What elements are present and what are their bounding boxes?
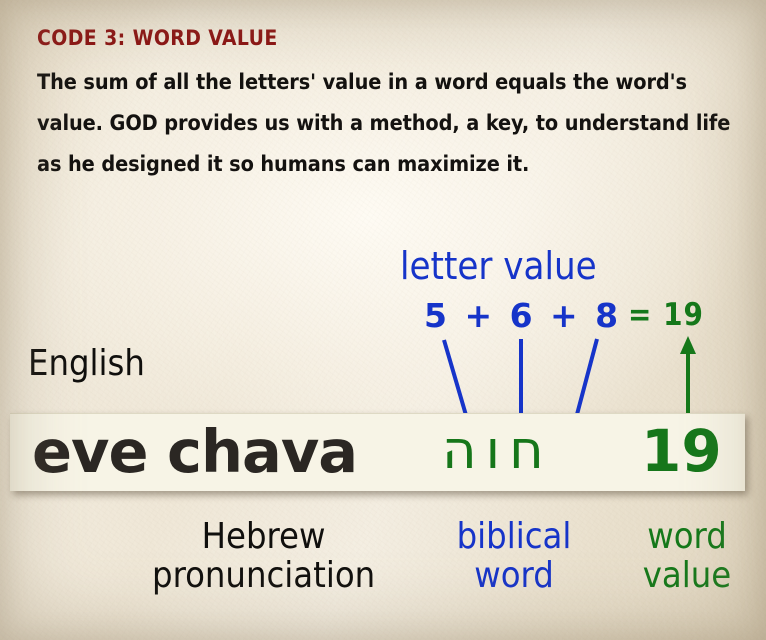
slide-canvas: CODE 3: WORD VALUE The sum of all the le… (0, 0, 766, 640)
body-paragraph: The sum of all the letters' value in a w… (37, 62, 737, 185)
english-word-text: eve chava (32, 417, 357, 486)
page-title: CODE 3: WORD VALUE (37, 26, 278, 50)
biblical-word-label-line1: biblical (457, 516, 572, 557)
hebrew-pronunciation-label-line2: pronunciation (152, 557, 375, 596)
biblical-word-label: biblical word (444, 518, 584, 596)
word-value-arrow-icon (680, 336, 696, 424)
word-value-number: 19 (641, 416, 722, 484)
english-label: English (28, 345, 145, 384)
sum-result: = 19 (628, 297, 704, 333)
hebrew-pronunciation-label-line1: Hebrew (202, 516, 326, 557)
sum-expression: 5 + 6 + 8 (424, 296, 621, 335)
hebrew-word-text: חוה (442, 420, 553, 481)
letter-value-heading: letter value (400, 246, 597, 287)
hebrew-pronunciation-label: Hebrew pronunciation (152, 518, 375, 596)
word-bar: eve chava חוה 19 (10, 413, 745, 491)
word-value-label-line1: word (647, 516, 727, 557)
word-value-label-line2: value (622, 557, 752, 596)
word-value-label: word value (622, 518, 752, 596)
connector-line-8 (575, 339, 597, 422)
biblical-word-label-line2: word (444, 557, 584, 596)
connector-line-5 (444, 340, 468, 422)
